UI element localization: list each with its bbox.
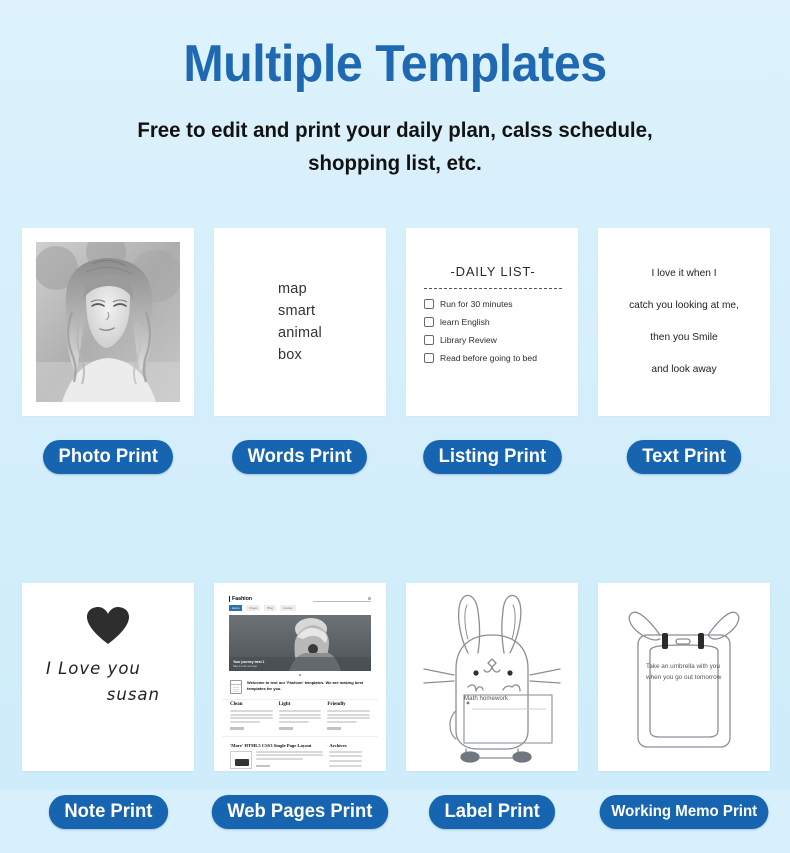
list-item: Read before going to bed: [424, 353, 562, 363]
web-archive-block: Archives: [329, 743, 370, 769]
post-thumbnail: [230, 751, 252, 769]
column-heading: Friendly: [327, 702, 370, 707]
label-item-text: Math homework: [464, 695, 508, 702]
web-feature-column: Light: [279, 702, 322, 731]
preview-card-listing-print[interactable]: -DAILY LIST- Run for 30 minutes learn En…: [406, 228, 578, 416]
webpage-preview: Fashion Home Pages Blog Contact: [222, 591, 378, 771]
text-print-button[interactable]: Text Print: [627, 440, 742, 474]
template-cell-web-pages-print: Fashion Home Pages Blog Contact: [214, 583, 386, 853]
read-more-link[interactable]: [279, 727, 293, 729]
text-placeholder: [327, 721, 357, 723]
button-wrap-web-pages-print: Web Pages Print: [214, 771, 386, 853]
note-preview: I Love you susan: [22, 583, 194, 771]
text-placeholder: [279, 714, 322, 716]
preview-card-note-print[interactable]: I Love you susan: [22, 583, 194, 771]
note-line-2: susan: [38, 685, 178, 704]
read-more-link[interactable]: [256, 765, 270, 767]
note-line-1: I Love you: [38, 659, 178, 678]
column-heading: Light: [279, 702, 322, 707]
checkbox-icon[interactable]: [424, 335, 434, 345]
web-post: [230, 751, 323, 769]
template-grid: Photo Print map smart animal box Words P…: [22, 228, 770, 853]
page-subtitle: Free to edit and print your daily plan, …: [72, 114, 718, 179]
label-print-button[interactable]: Label Print: [429, 795, 555, 829]
archive-link[interactable]: [329, 751, 361, 753]
archive-link[interactable]: [329, 760, 361, 762]
search-icon: [368, 597, 371, 600]
list-item-label: Library Review: [440, 335, 497, 345]
web-logo: Fashion: [229, 596, 252, 602]
read-more-link[interactable]: [230, 727, 244, 729]
button-wrap-label-print: Label Print: [406, 771, 578, 853]
document-icon: [230, 680, 242, 694]
list-item-label: Run for 30 minutes: [440, 299, 513, 309]
word-item: smart: [278, 300, 322, 322]
web-feature-column: Friendly: [327, 702, 370, 731]
memo-text: Take an umbrella with you when you go ou…: [646, 661, 724, 683]
text-line: then you Smile: [650, 333, 717, 343]
list-item-label: learn English: [440, 317, 490, 327]
dashed-divider: [424, 288, 562, 289]
heart-icon: [87, 607, 129, 645]
text-placeholder: [230, 717, 273, 719]
word-item: map: [278, 278, 322, 300]
text-preview: I love it when I catch you looking at me…: [610, 228, 758, 416]
web-welcome-text: Welcome to test our 'Fashion' templates.…: [247, 680, 370, 692]
archive-link[interactable]: [329, 765, 361, 767]
button-wrap-text-print: Text Print: [598, 416, 770, 498]
subtitle-line-1: Free to edit and print your daily plan, …: [72, 114, 718, 147]
preview-card-text-print[interactable]: I love it when I catch you looking at me…: [598, 228, 770, 416]
listing-preview: -DAILY LIST- Run for 30 minutes learn En…: [424, 264, 562, 371]
checkbox-icon[interactable]: [424, 299, 434, 309]
button-wrap-note-print: Note Print: [22, 771, 194, 853]
template-cell-photo-print: Photo Print: [22, 228, 194, 498]
button-wrap-listing-print: Listing Print: [406, 416, 578, 498]
template-cell-listing-print: -DAILY LIST- Run for 30 minutes learn En…: [406, 228, 578, 498]
word-item: box: [278, 344, 322, 366]
web-post-block: 'More' HTML5 CSS3 Single Page Layout: [230, 743, 323, 769]
hero-caption-sub: Take it to the next step: [233, 665, 367, 668]
text-line: and look away: [651, 365, 716, 375]
web-nav-item[interactable]: Contact: [280, 605, 296, 611]
checkbox-icon[interactable]: [424, 317, 434, 327]
template-cell-label-print: Math homework Label Print: [406, 583, 578, 853]
button-wrap-photo-print: Photo Print: [22, 416, 194, 498]
button-wrap-words-print: Words Print: [214, 416, 386, 498]
read-more-link[interactable]: [327, 727, 341, 729]
web-pages-print-button[interactable]: Web Pages Print: [212, 795, 388, 829]
template-cell-note-print: I Love you susan Note Print: [22, 583, 194, 853]
rabbit-icon: [406, 583, 578, 771]
web-hero-image: Your journey best 1 Take it to the next …: [229, 615, 371, 671]
template-cell-words-print: map smart animal box Words Print: [214, 228, 386, 498]
text-placeholder: [230, 710, 273, 712]
words-preview: map smart animal box: [214, 228, 386, 416]
template-cell-text-print: I love it when I catch you looking at me…: [598, 228, 770, 498]
web-bottom-section: 'More' HTML5 CSS3 Single Page Layout: [222, 736, 378, 769]
text-placeholder: [256, 754, 323, 756]
text-placeholder: [327, 717, 370, 719]
web-welcome-block: Welcome to test our 'Fashion' templates.…: [222, 680, 378, 699]
text-placeholder: [230, 721, 260, 723]
web-bottom-heading: 'More' HTML5 CSS3 Single Page Layout: [230, 743, 323, 748]
web-header: Fashion: [222, 591, 378, 605]
photo-print-button[interactable]: Photo Print: [43, 440, 173, 474]
daily-list-title: -DAILY LIST-: [424, 264, 562, 279]
web-nav: Home Pages Blog Contact: [222, 605, 378, 615]
column-heading: Clean: [230, 702, 273, 707]
text-placeholder: [279, 710, 322, 712]
web-feature-column: Clean: [230, 702, 273, 731]
list-item: learn English: [424, 317, 562, 327]
preview-card-working-memo-print[interactable]: Take an umbrella with you when you go ou…: [598, 583, 770, 771]
working-memo-print-button[interactable]: Working Memo Print: [599, 795, 768, 829]
word-item: animal: [278, 322, 322, 344]
web-nav-item[interactable]: Pages: [246, 605, 260, 611]
hero-caption-title: Your journey best 1: [233, 660, 367, 664]
text-placeholder: [256, 751, 323, 753]
photo-preview-image: [36, 242, 180, 402]
text-line: I love it when I: [651, 269, 716, 279]
text-placeholder: [279, 721, 309, 723]
preview-card-web-pages-print[interactable]: Fashion Home Pages Blog Contact: [214, 583, 386, 771]
text-placeholder: [327, 710, 370, 712]
web-hero-caption: Your journey best 1 Take it to the next …: [229, 657, 371, 671]
carousel-dot-icon[interactable]: [299, 674, 301, 676]
text-placeholder: [230, 714, 273, 716]
web-feature-columns: Clean Light: [222, 699, 378, 731]
page-root: Multiple Templates Free to edit and prin…: [0, 0, 790, 790]
page-title: Multiple Templates: [28, 0, 763, 94]
text-placeholder: [256, 758, 303, 760]
web-nav-item[interactable]: Blog: [264, 605, 276, 611]
words-print-button[interactable]: Words Print: [232, 440, 367, 474]
web-nav-item[interactable]: Home: [229, 605, 242, 611]
text-placeholder: [279, 717, 322, 719]
preview-card-words-print[interactable]: map smart animal box: [214, 228, 386, 416]
preview-card-label-print[interactable]: Math homework: [406, 583, 578, 771]
preview-card-photo-print[interactable]: [22, 228, 194, 416]
web-sidebar-heading: Archives: [329, 743, 370, 748]
archive-link[interactable]: [329, 755, 361, 757]
text-line: catch you looking at me,: [629, 301, 739, 311]
list-item: Library Review: [424, 335, 562, 345]
listing-print-button[interactable]: Listing Print: [423, 440, 562, 474]
note-print-button[interactable]: Note Print: [48, 795, 167, 829]
web-search-field[interactable]: [313, 596, 371, 602]
text-placeholder: [327, 714, 370, 716]
subtitle-line-2: shopping list, etc.: [72, 147, 718, 180]
template-cell-working-memo-print: Take an umbrella with you when you go ou…: [598, 583, 770, 853]
checkbox-icon[interactable]: [424, 353, 434, 363]
list-item-label: Read before going to bed: [440, 353, 537, 363]
list-item: Run for 30 minutes: [424, 299, 562, 309]
button-wrap-working-memo-print: Working Memo Print: [598, 771, 770, 853]
